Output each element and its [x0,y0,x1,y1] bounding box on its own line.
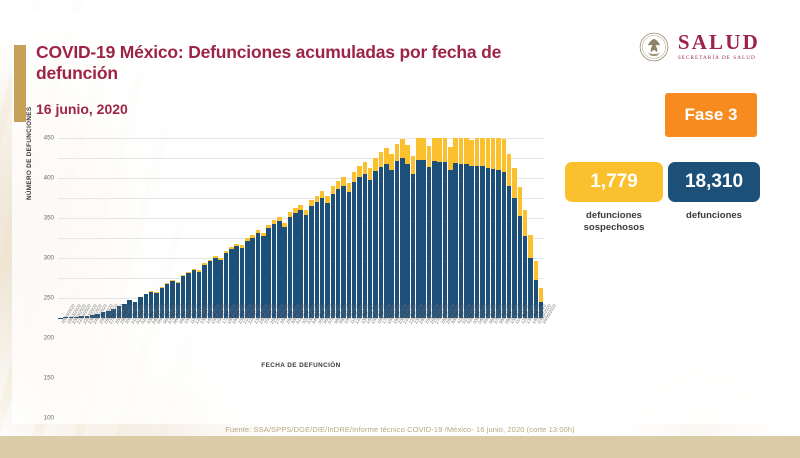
x-tick-cell: 15/04/2020 [208,320,213,368]
y-axis-tick-label: 250 [44,295,54,302]
bar-column [437,138,442,318]
bar-column [95,138,100,318]
bar-segment-confirmed [421,160,426,318]
x-tick-cell: 06/06/2020 [486,320,491,368]
bar-segment-confirmed [357,177,362,318]
x-tick-cell: 22/05/2020 [405,320,410,368]
y-axis-tick-label: 400 [44,175,54,182]
bar-column [101,138,106,318]
bar-column [320,138,325,318]
bar-segment-suspected [352,172,357,182]
bar-column [496,138,501,318]
bar-column [325,138,330,318]
bar-column [181,138,186,318]
x-tick-cell: 18/04/2020 [224,320,229,368]
y-axis-tick-label: 300 [44,255,54,262]
x-tick-cell: 16/04/2020 [213,320,218,368]
x-tick-cell: 24/04/2020 [256,320,261,368]
x-tick-cell: 19/03/2020 [63,320,68,368]
bar-segment-suspected [453,138,458,163]
bar-segment-confirmed [379,167,384,318]
bar-column [90,138,95,318]
bar-segment-suspected [331,186,336,194]
bar-segment-suspected [448,147,453,170]
bar-segment-confirmed [469,166,474,318]
x-tick-cell: 18/05/2020 [384,320,389,368]
x-tick-cell: 27/04/2020 [272,320,277,368]
x-tick-cell: 08/05/2020 [331,320,336,368]
report-date: 16 junio, 2020 [36,101,128,117]
bar-segment-suspected [486,138,491,168]
bar-segment-confirmed [480,166,485,318]
bar-column [491,138,496,318]
title-accent-bar [14,45,26,122]
x-axis-title: FECHA DE DEFUNCIÓN [58,362,544,369]
mexican-eagle-seal-icon [639,32,669,62]
bar-segment-confirmed [347,192,352,318]
bar-column [154,138,159,318]
bar-column [240,138,245,318]
bar-segment-confirmed [502,172,507,318]
x-tick-cell: 25/05/2020 [421,320,426,368]
bar-segment-confirmed [315,202,320,318]
bar-column [400,138,405,318]
x-tick-cell: 05/05/2020 [315,320,320,368]
bar-segment-confirmed [475,166,480,318]
bar-column [170,138,175,318]
bar-column [160,138,165,318]
bar-column [304,138,309,318]
bar-segment-suspected [336,181,341,189]
bar-column [443,138,448,318]
x-tick-cell: 07/06/2020 [491,320,496,368]
x-tick-cell: 11/04/2020 [186,320,191,368]
x-tick-cell: 14/05/2020 [363,320,368,368]
bar-column [384,138,389,318]
bar-column [74,138,79,318]
bar-column [352,138,357,318]
x-tick-cell: 24/05/2020 [416,320,421,368]
x-tick-cell: 22/03/2020 [79,320,84,368]
bar-segment-suspected [539,288,544,302]
bar-segment-suspected [491,138,496,169]
x-tick-cell: 06/05/2020 [320,320,325,368]
bar-segment-confirmed [389,170,394,318]
x-tick-cell: 19/04/2020 [229,320,234,368]
bar-segment-confirmed [448,170,453,318]
x-tick-cell: 09/05/2020 [336,320,341,368]
bar-column [144,138,149,318]
x-tick-cell: 13/04/2020 [197,320,202,368]
bar-column [528,138,533,318]
slide-root: COVID-19 México: Defunciones acumuladas … [0,0,800,458]
bar-segment-confirmed [464,164,469,318]
x-tick-cell: 13/05/2020 [357,320,362,368]
bar-column [106,138,111,318]
x-tick-cell: 26/03/2020 [101,320,106,368]
bar-column [202,138,207,318]
x-tick-cell: 12/06/2020 [518,320,523,368]
bar-segment-confirmed [411,174,416,318]
bar-column [122,138,127,318]
x-tick-cell: 20/04/2020 [234,320,239,368]
bar-column [502,138,507,318]
x-tick-cell: 07/04/2020 [165,320,170,368]
bar-column [411,138,416,318]
page-title: COVID-19 México: Defunciones acumuladas … [36,42,576,85]
bar-column [288,138,293,318]
x-tick-cell: 20/05/2020 [395,320,400,368]
bar-column [261,138,266,318]
bar-column [218,138,223,318]
bar-segment-confirmed [416,160,421,318]
bar-column [453,138,458,318]
bar-column [224,138,229,318]
bar-column [117,138,122,318]
bar-segment-confirmed [325,203,330,318]
y-axis-tick-label: 350 [44,215,54,222]
x-tick-cell: 04/05/2020 [309,320,314,368]
bar-segment-confirmed [507,186,512,318]
x-tick-cell: 02/05/2020 [298,320,303,368]
bar-segment-confirmed [400,158,405,318]
x-axis-tick-labels: 18/03/202019/03/202020/03/202021/03/2020… [58,320,544,368]
bar-column [197,138,202,318]
bar-segment-confirmed [363,174,368,318]
bar-column [341,138,346,318]
bar-segment-confirmed [336,189,341,318]
bar-column [539,138,544,318]
bar-segment-confirmed [320,198,325,318]
bar-column [256,138,261,318]
bar-segment-suspected [528,235,533,258]
stat-confirmed-label: defunciones [668,210,760,222]
bar-column [277,138,282,318]
bar-column [416,138,421,318]
bar-segment-suspected [502,139,507,172]
bar-column [480,138,485,318]
x-tick-cell: 14/04/2020 [202,320,207,368]
bar-column [432,138,437,318]
bar-segment-suspected [507,154,512,186]
bar-column [272,138,277,318]
bar-column [421,138,426,318]
bar-segment-suspected [400,139,405,158]
bar-column [149,138,154,318]
bar-column [534,138,539,318]
bar-column [368,138,373,318]
x-tick-cell: 30/05/2020 [448,320,453,368]
bar-column [347,138,352,318]
bar-segment-confirmed [293,213,298,318]
bar-segment-suspected [325,196,330,203]
x-tick-cell: 22/04/2020 [245,320,250,368]
bar-segment-confirmed [373,171,378,318]
bar-segment-suspected [379,152,384,166]
bar-segment-confirmed [368,180,373,318]
x-tick-cell: 04/06/2020 [475,320,480,368]
bar-segment-suspected [347,183,352,192]
bar-column [208,138,213,318]
bar-segment-suspected [341,177,346,186]
x-tick-cell: 24/03/2020 [90,320,95,368]
bar-column [395,138,400,318]
x-tick-cell: 03/06/2020 [469,320,474,368]
phase-badge: Fase 3 [665,93,757,137]
x-tick-cell: 07/05/2020 [325,320,330,368]
x-tick-cell: 11/06/2020 [512,320,517,368]
x-tick-cell: 15/05/2020 [368,320,373,368]
x-tick-cell: 23/04/2020 [250,320,255,368]
bar-column [315,138,320,318]
bar-segment-suspected [480,138,485,166]
source-note: Fuente: SSA/SPPS/DGE/DIE/InDRE/Informe t… [0,425,800,434]
x-tick-cell: 30/03/2020 [122,320,127,368]
bar-segment-confirmed [432,161,437,318]
bar-column [448,138,453,318]
bar-segment-suspected [475,138,480,166]
bar-segment-suspected [395,144,400,162]
x-tick-cell: 29/04/2020 [282,320,287,368]
x-tick-cell: 31/05/2020 [453,320,458,368]
logo-wordmark: SALUD [678,32,760,53]
bar-column [298,138,303,318]
bar-column [85,138,90,318]
x-tick-cell: 02/06/2020 [464,320,469,368]
x-tick-cell: 23/03/2020 [85,320,90,368]
x-tick-cell: 17/05/2020 [379,320,384,368]
x-tick-cell: 02/04/2020 [138,320,143,368]
bar-column [309,138,314,318]
x-tick-cell: 14/06/2020 [528,320,533,368]
bar-segment-confirmed [395,161,400,318]
bar-column [127,138,132,318]
bar-column [459,138,464,318]
x-tick-cell: 27/03/2020 [106,320,111,368]
bar-column [379,138,384,318]
x-tick-cell: 01/05/2020 [293,320,298,368]
bar-column [111,138,116,318]
bar-column [357,138,362,318]
bar-segment-suspected [373,158,378,171]
bar-segment-confirmed [298,210,303,318]
bar-column [69,138,74,318]
x-tick-cell: 05/04/2020 [154,320,159,368]
x-tick-cell: 26/05/2020 [427,320,432,368]
x-tick-cell: 23/05/2020 [411,320,416,368]
x-tick-cell: 03/04/2020 [144,320,149,368]
bar-segment-suspected [518,187,523,216]
bar-column [518,138,523,318]
bar-segment-confirmed [405,164,410,318]
x-tick-cell: 13/06/2020 [523,320,528,368]
bar-column [63,138,68,318]
chart-plot-area: 050100150200250300350400450 [58,138,544,318]
deaths-bar-chart: NÚMERO DE DEFUNCIONES 050100150200250300… [28,130,548,375]
bar-segment-confirmed [453,163,458,318]
bar-segment-confirmed [443,162,448,318]
x-tick-cell: 25/03/2020 [95,320,100,368]
stat-suspected-label: defunciones sospechosos [565,210,663,234]
x-tick-cell: 31/03/2020 [127,320,132,368]
bar-segment-confirmed [309,206,314,318]
bar-segment-suspected [421,138,426,160]
bar-segment-confirmed [427,167,432,318]
bar-segment-suspected [368,168,373,180]
bar-segment-confirmed [384,164,389,318]
bar-column [512,138,517,318]
bar-segment-confirmed [512,198,517,318]
logo-subtitle: SECRETARÍA DE SALUD [678,56,760,61]
x-tick-cell: 12/04/2020 [192,320,197,368]
bar-segment-suspected [512,168,517,198]
x-tick-cell: 01/04/2020 [133,320,138,368]
x-tick-cell: 19/05/2020 [389,320,394,368]
y-axis-tick-label: 150 [44,375,54,382]
x-tick-cell: 29/05/2020 [443,320,448,368]
bar-column [266,138,271,318]
x-tick-cell: 01/06/2020 [459,320,464,368]
x-tick-cell: 10/06/2020 [507,320,512,368]
bar-column [250,138,255,318]
stat-confirmed-value: 18,310 [668,162,760,202]
y-axis-tick-label: 450 [44,135,54,142]
bar-segment-confirmed [341,186,346,318]
bar-column [213,138,218,318]
bar-column [58,138,63,318]
stat-suspected-value: 1,779 [565,162,663,202]
y-axis-title: NÚMERO DE DEFUNCIONES [26,107,33,200]
bar-column [331,138,336,318]
bar-segment-suspected [496,138,501,170]
bar-column [405,138,410,318]
salud-logo: SALUD SECRETARÍA DE SALUD [639,32,760,62]
bar-segment-suspected [464,138,469,164]
bar-column [373,138,378,318]
bar-segment-suspected [459,138,464,164]
bar-segment-confirmed [437,162,442,318]
x-tick-cell: 10/05/2020 [341,320,346,368]
bar-segment-suspected [534,261,539,280]
bar-segment-suspected [411,156,416,174]
footer-band [0,436,800,458]
bar-column [507,138,512,318]
bar-segment-suspected [405,145,410,164]
bar-segment-suspected [469,140,474,166]
bar-column [486,138,491,318]
bar-column [186,138,191,318]
bar-column [282,138,287,318]
x-tick-cell: 21/04/2020 [240,320,245,368]
bar-column [336,138,341,318]
x-tick-cell: 11/05/2020 [347,320,352,368]
bar-segment-confirmed [486,168,491,318]
bar-segment-suspected [523,210,528,236]
x-tick-cell: 09/04/2020 [176,320,181,368]
stat-suspected: 1,779 defunciones sospechosos [565,162,663,234]
x-tick-cell: 20/03/2020 [69,320,74,368]
x-tick-cell: 28/03/2020 [111,320,116,368]
bar-column [229,138,234,318]
x-tick-cell: 30/04/2020 [288,320,293,368]
chart-bars [58,138,544,318]
bar-column [138,138,143,318]
bar-segment-suspected [389,154,394,170]
bar-column [427,138,432,318]
bar-segment-suspected [363,162,368,174]
x-tick-cell: 26/04/2020 [266,320,271,368]
bar-column [245,138,250,318]
bar-column [79,138,84,318]
x-tick-cell: 21/05/2020 [400,320,405,368]
bar-column [469,138,474,318]
bar-segment-suspected [443,138,448,162]
bar-column [234,138,239,318]
bar-column [165,138,170,318]
bar-column [475,138,480,318]
bar-segment-suspected [357,166,362,177]
x-tick-cell: 03/05/2020 [304,320,309,368]
x-tick-cell: 21/03/2020 [74,320,79,368]
x-tick-cell: 08/04/2020 [170,320,175,368]
x-tick-cell: 10/04/2020 [181,320,186,368]
bar-column [192,138,197,318]
bar-column [464,138,469,318]
x-tick-cell: 16/06/2020 [539,320,544,368]
bar-column [363,138,368,318]
bar-segment-suspected [437,138,442,162]
y-axis-tick-label: 100 [44,415,54,422]
bar-segment-suspected [432,138,437,161]
bar-segment-confirmed [491,169,496,318]
x-tick-cell: 28/04/2020 [277,320,282,368]
x-tick-cell: 12/05/2020 [352,320,357,368]
x-tick-cell: 16/05/2020 [373,320,378,368]
x-tick-cell: 04/04/2020 [149,320,154,368]
bar-column [523,138,528,318]
x-tick-cell: 27/05/2020 [432,320,437,368]
x-tick-cell: 08/06/2020 [496,320,501,368]
stat-confirmed: 18,310 defunciones [668,162,760,222]
bar-column [176,138,181,318]
bar-segment-confirmed [352,182,357,318]
bar-segment-confirmed [331,194,336,318]
bar-segment-confirmed [496,170,501,318]
y-axis-tick-label: 200 [44,335,54,342]
x-tick-cell: 28/05/2020 [437,320,442,368]
x-tick-cell: 06/04/2020 [160,320,165,368]
bar-segment-suspected [427,146,432,167]
x-tick-cell: 25/04/2020 [261,320,266,368]
bar-column [389,138,394,318]
bar-segment-suspected [384,148,389,163]
bar-column [293,138,298,318]
bar-column [133,138,138,318]
bar-segment-suspected [320,191,325,198]
x-tick-cell: 17/04/2020 [218,320,223,368]
x-tick-cell: 09/06/2020 [502,320,507,368]
x-tick-cell: 18/03/2020 [58,320,63,368]
x-tick-cell: 29/03/2020 [117,320,122,368]
x-tick-cell: 05/06/2020 [480,320,485,368]
bar-segment-suspected [416,138,421,160]
x-tick-cell: 15/06/2020 [534,320,539,368]
bar-segment-confirmed [459,164,464,318]
